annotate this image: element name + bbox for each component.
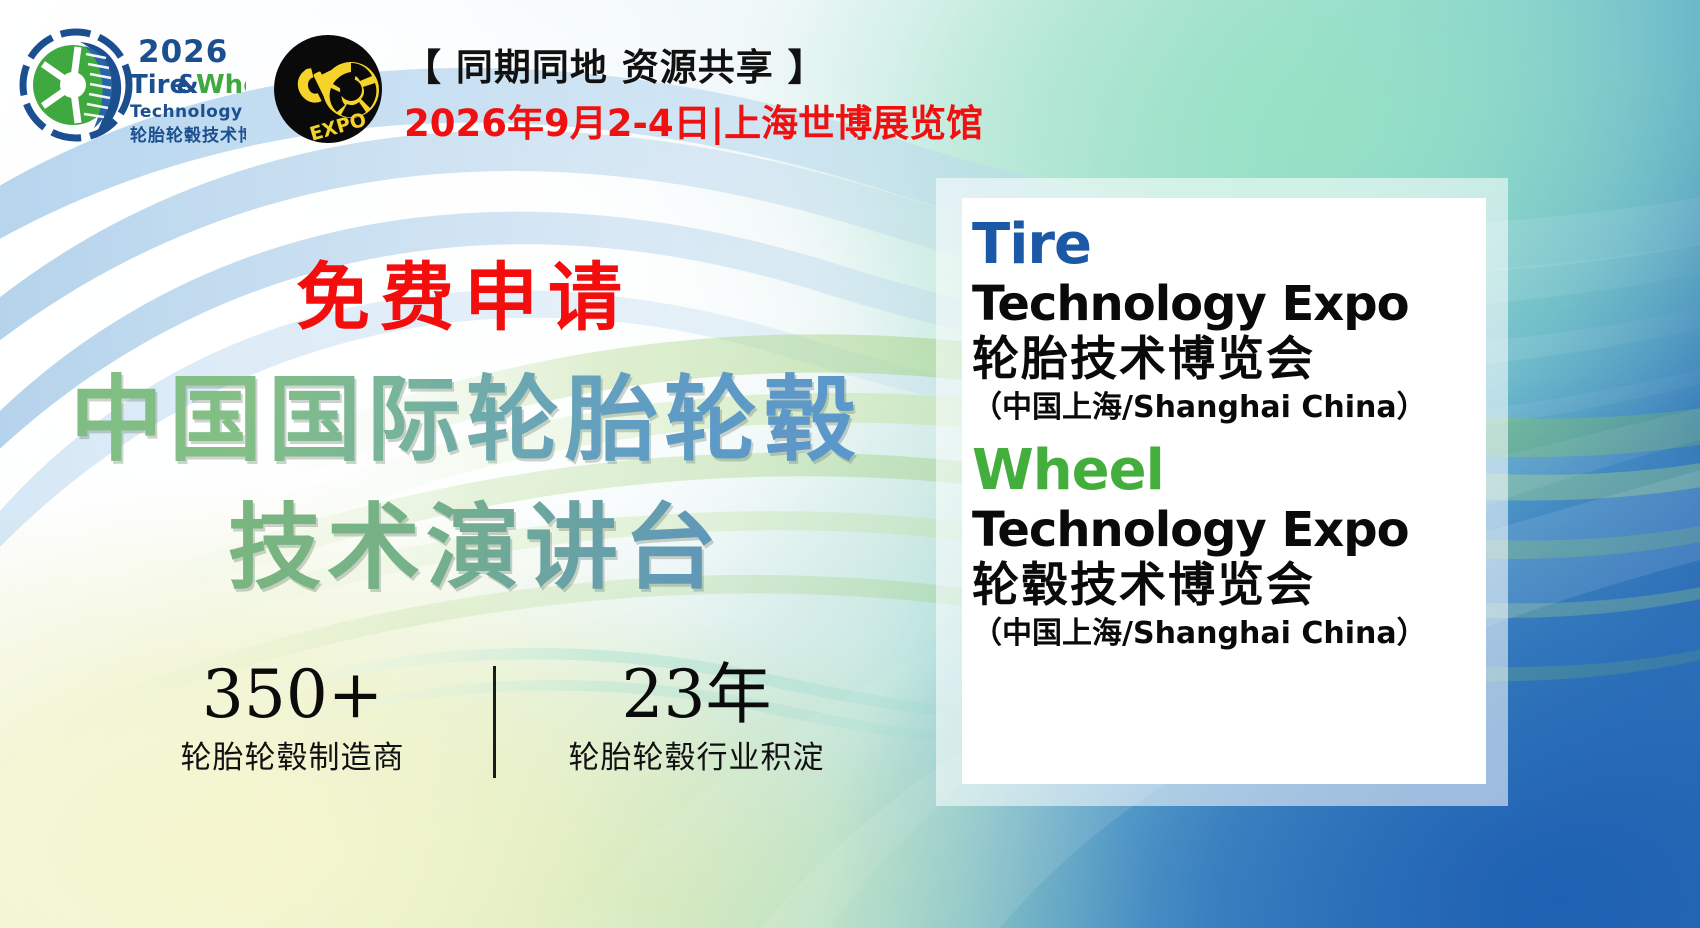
expo-panel: Tire Technology Expo 轮胎技术博览会 （中国上海/Shang… bbox=[962, 198, 1486, 784]
tire-wheel-logo: 2026 Tire & Wheel Technology Expo 轮胎轮毂技术… bbox=[18, 22, 246, 154]
header-tagline: 【 同期同地 资源共享 】 bbox=[404, 42, 983, 94]
page-title-line2: 技术演讲台 bbox=[228, 484, 928, 612]
stats-divider bbox=[493, 666, 496, 778]
promo-banner: 2026 Tire & Wheel Technology Expo 轮胎轮毂技术… bbox=[0, 0, 1700, 928]
header-date-venue: 2026年9月2-4日|上海世博展览馆 bbox=[404, 98, 983, 150]
tire-brand-name: Tire bbox=[972, 214, 1486, 276]
stat-value: 350+ bbox=[120, 656, 465, 734]
logo-sub-en: Technology Expo bbox=[130, 102, 246, 122]
stat-label: 轮胎轮毂行业积淀 bbox=[524, 736, 869, 780]
wheel-tech-en: Technology Expo bbox=[972, 502, 1486, 558]
stat-item-1: 23年 轮胎轮毂行业积淀 bbox=[524, 656, 869, 780]
free-apply-badge: 免费申请 bbox=[296, 238, 632, 345]
stat-value: 23年 bbox=[524, 656, 869, 734]
logo-wheel: Wheel bbox=[196, 70, 246, 100]
tire-tech-cn: 轮胎技术博览会 bbox=[972, 332, 1486, 388]
citexpo-logo: EXPO bbox=[272, 33, 384, 145]
stats-row: 350+ 轮胎轮毂制造商 23年 轮胎轮毂行业积淀 bbox=[120, 656, 910, 780]
stat-label: 轮胎轮毂制造商 bbox=[120, 736, 465, 780]
page-title-line1: 中国国际轮胎轮毂 bbox=[70, 356, 900, 484]
tire-tech-en: Technology Expo bbox=[972, 276, 1486, 332]
stat-item-0: 350+ 轮胎轮毂制造商 bbox=[120, 656, 465, 780]
tire-location: （中国上海/Shanghai China） bbox=[972, 388, 1486, 428]
wheel-location: （中国上海/Shanghai China） bbox=[972, 614, 1486, 654]
logo-sub-cn: 轮胎轮毂技术博览会 bbox=[130, 125, 246, 146]
header-text-block: 【 同期同地 资源共享 】 2026年9月2-4日|上海世博展览馆 bbox=[404, 42, 983, 150]
wheel-brand-name: Wheel bbox=[972, 440, 1486, 502]
banner-header: 2026 Tire & Wheel Technology Expo 轮胎轮毂技术… bbox=[0, 0, 1700, 170]
wheel-tech-cn: 轮毂技术博览会 bbox=[972, 558, 1486, 614]
logo-year: 2026 bbox=[138, 34, 228, 70]
